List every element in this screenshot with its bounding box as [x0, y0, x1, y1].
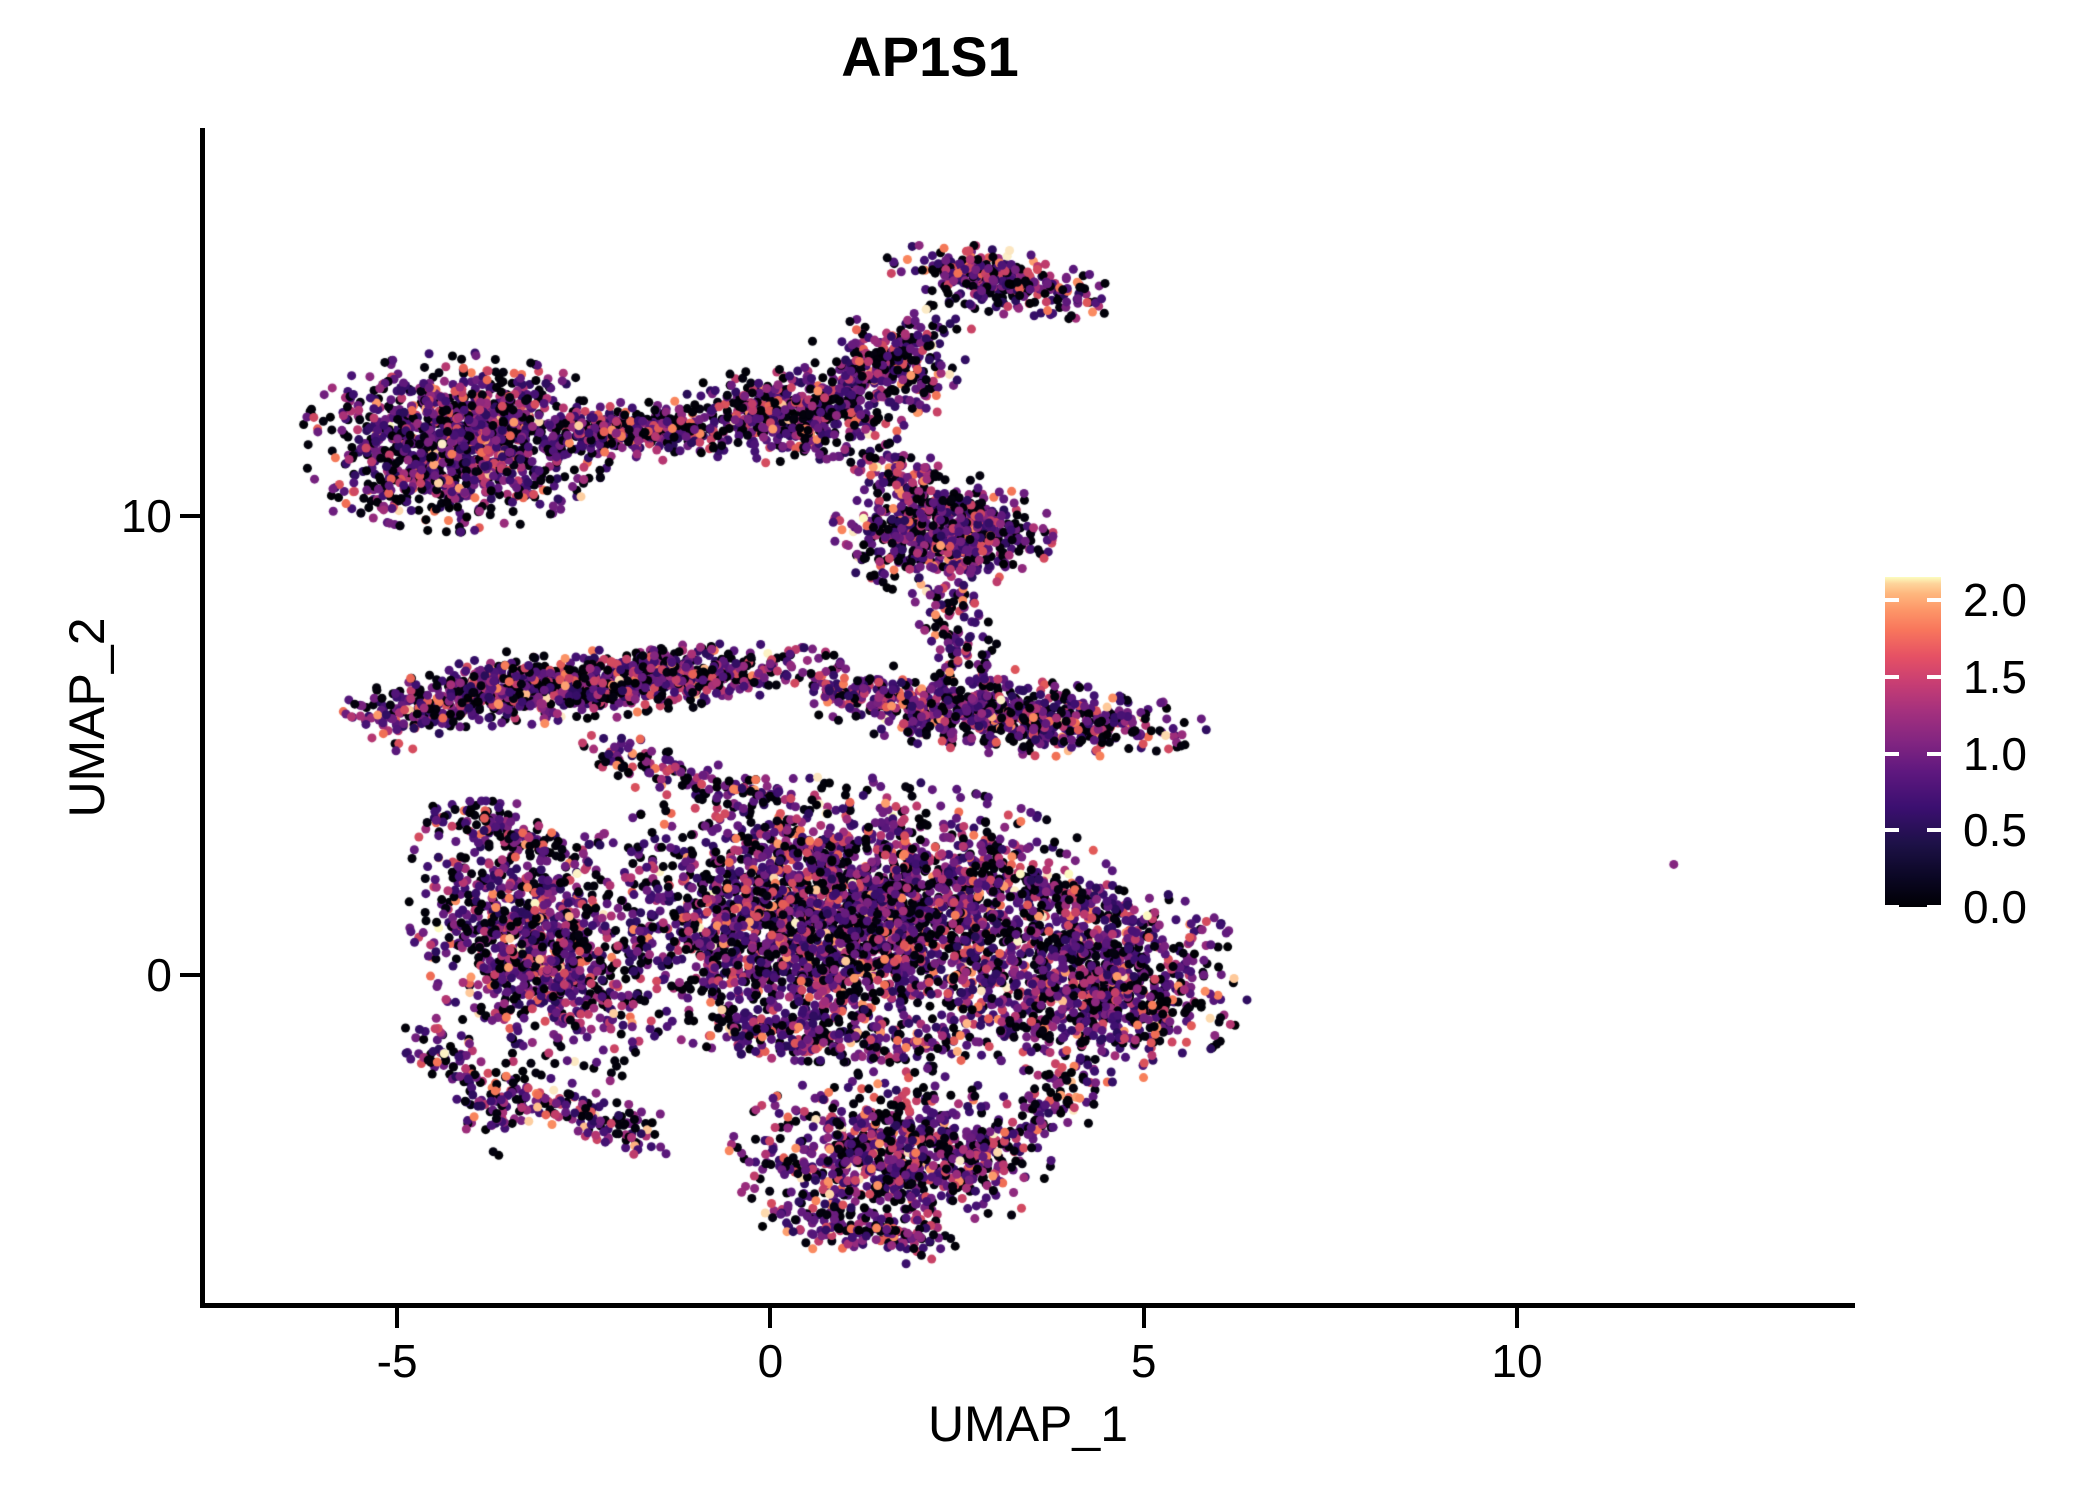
x-tick-mark [395, 1308, 399, 1328]
y-tick-mark [180, 514, 200, 518]
x-tick-label: 10 [1491, 1334, 1542, 1388]
colorbar-tick-mark [1927, 675, 1941, 679]
y-axis-line [200, 128, 205, 1308]
colorbar-tick-mark [1885, 905, 1899, 909]
colorbar-tick-label: 1.5 [1963, 650, 2027, 704]
y-tick-label: 0 [146, 948, 172, 1002]
colorbar-tick-mark [1885, 675, 1899, 679]
page-title: AP1S1 [0, 24, 1860, 89]
x-tick-mark [768, 1308, 772, 1328]
y-tick-mark [180, 973, 200, 977]
x-tick-mark [1142, 1308, 1146, 1328]
colorbar-tick-label: 1.0 [1963, 727, 2027, 781]
colorbar-tick-mark [1927, 905, 1941, 909]
scatter-canvas [203, 130, 1853, 1305]
x-axis-label: UMAP_1 [203, 1395, 1853, 1453]
x-tick-label: 0 [758, 1334, 784, 1388]
colorbar-tick-label: 0.0 [1963, 880, 2027, 934]
color-legend: 2.01.51.00.50.0 [1885, 577, 2100, 917]
x-tick-label: 5 [1131, 1334, 1157, 1388]
scatter-layer [203, 130, 1853, 1305]
y-axis-label: UMAP_2 [58, 130, 116, 1305]
colorbar-tick-mark [1885, 598, 1899, 602]
y-tick-label: 10 [121, 489, 172, 543]
colorbar-tick-mark [1927, 752, 1941, 756]
colorbar-tick-mark [1885, 752, 1899, 756]
x-tick-label: -5 [377, 1334, 418, 1388]
colorbar-gradient [1885, 577, 1941, 907]
colorbar-tick-label: 2.0 [1963, 573, 2027, 627]
x-tick-mark [1515, 1308, 1519, 1328]
colorbar-tick-mark [1927, 828, 1941, 832]
umap-feature-plot: AP1S1 -50510 100 UMAP_1 UMAP_2 2.01.51.0… [0, 0, 2100, 1500]
colorbar-tick-mark [1885, 828, 1899, 832]
colorbar-tick-mark [1927, 598, 1941, 602]
x-axis-line [200, 1303, 1855, 1308]
colorbar-tick-label: 0.5 [1963, 803, 2027, 857]
